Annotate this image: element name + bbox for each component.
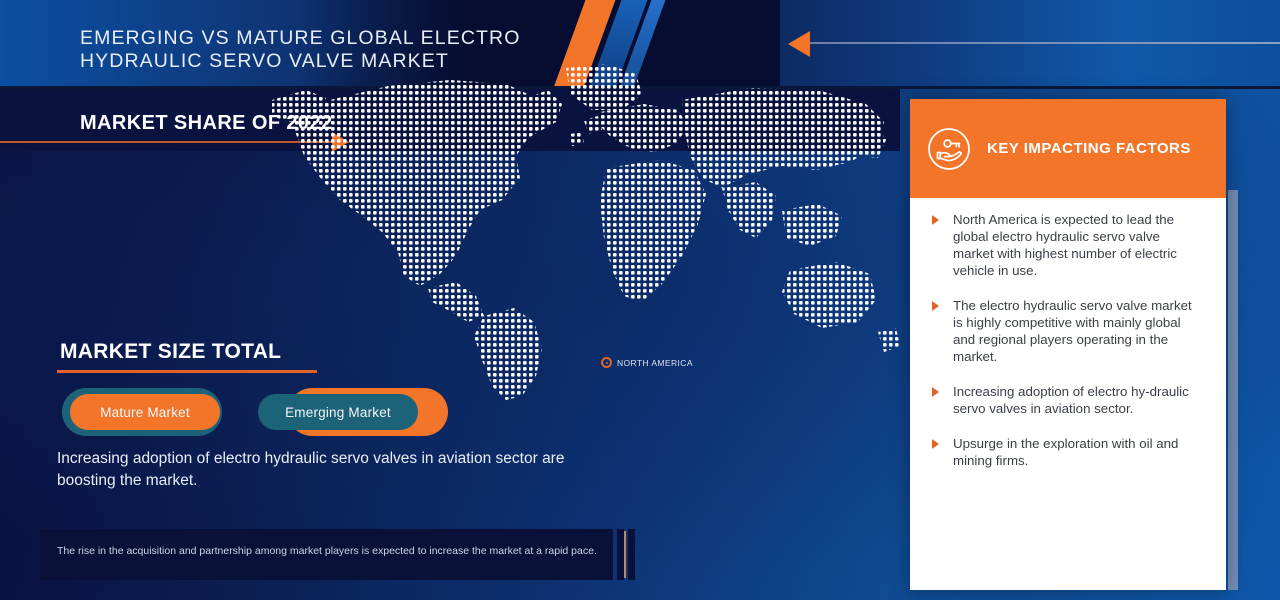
world-map: NORTH AMERICA xyxy=(270,60,900,400)
list-item-text: The electro hydraulic servo valve market… xyxy=(953,297,1204,365)
map-marker-label: NORTH AMERICA xyxy=(617,358,693,368)
key-factors-card-shadow xyxy=(1228,190,1238,590)
legend-mature-market[interactable]: Mature Market xyxy=(60,388,240,440)
key-factors-header: KEY IMPACTING FACTORS xyxy=(910,99,1226,198)
hand-holding-key-icon xyxy=(927,127,971,171)
header-left-triangle-icon xyxy=(788,31,810,57)
key-factors-title: KEY IMPACTING FACTORS xyxy=(987,140,1191,157)
market-size-description: Increasing adoption of electro hydraulic… xyxy=(57,448,617,492)
bullet-triangle-icon xyxy=(932,215,953,225)
list-item: The electro hydraulic servo valve market… xyxy=(910,297,1226,365)
legend-mature-label[interactable]: Mature Market xyxy=(70,394,220,430)
bullet-triangle-icon xyxy=(932,439,953,449)
header-rule xyxy=(810,42,1280,44)
list-item-text: Upsurge in the exploration with oil and … xyxy=(953,435,1204,469)
list-item: Increasing adoption of electro hy-drauli… xyxy=(910,383,1226,417)
bottom-accent-line xyxy=(624,531,626,578)
legend-emerging-label[interactable]: Emerging Market xyxy=(258,394,418,430)
location-ring-icon xyxy=(601,357,612,368)
bottom-accent-bar-1 xyxy=(617,529,624,580)
key-factors-card: KEY IMPACTING FACTORS North America is e… xyxy=(910,99,1226,590)
list-item: Upsurge in the exploration with oil and … xyxy=(910,435,1226,469)
list-item-text: North America is expected to lead the gl… xyxy=(953,211,1204,279)
market-size-title: MARKET SIZE TOTAL xyxy=(60,340,281,364)
list-item-text: Increasing adoption of electro hy-drauli… xyxy=(953,383,1204,417)
list-item: North America is expected to lead the gl… xyxy=(910,211,1226,279)
bullet-triangle-icon xyxy=(932,387,953,397)
bottom-accent-bar-2 xyxy=(628,529,635,580)
bottom-note-text: The rise in the acquisition and partners… xyxy=(57,543,602,559)
bullet-triangle-icon xyxy=(932,301,953,311)
market-size-underline xyxy=(57,370,317,373)
legend-emerging-market[interactable]: Emerging Market xyxy=(258,388,448,440)
key-factors-list: North America is expected to lead the gl… xyxy=(910,211,1226,487)
world-map-dots xyxy=(270,60,900,400)
infographic-root: EMERGING VS MATURE GLOBAL ELECTRO HYDRAU… xyxy=(0,0,1280,600)
